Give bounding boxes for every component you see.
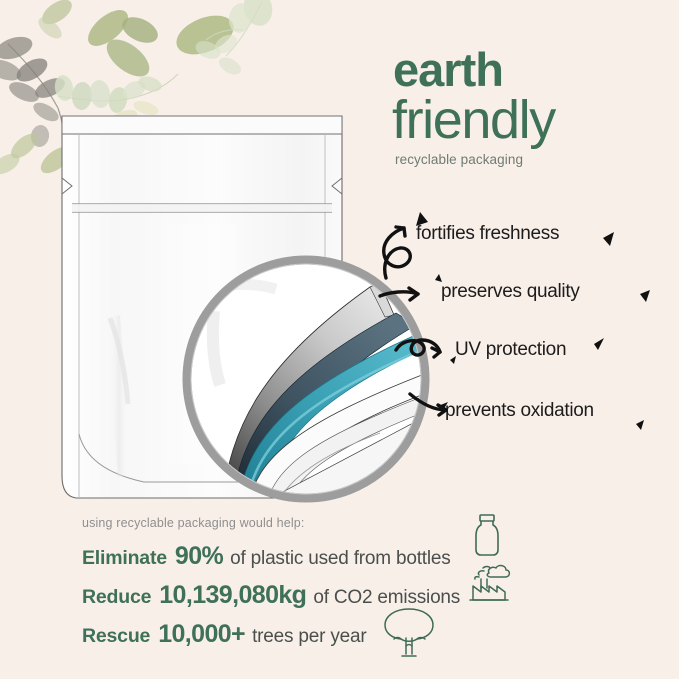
headline-block: earth friendly recyclable packaging bbox=[392, 47, 660, 167]
headline-line-1: earth bbox=[393, 47, 660, 93]
headline-line-2: friendly bbox=[392, 93, 660, 147]
stat-verb: Reduce bbox=[82, 586, 151, 609]
magnifier-cross-section bbox=[180, 253, 432, 505]
stat-number: 10,139,080kg bbox=[159, 581, 306, 610]
headline-subtitle: recyclable packaging bbox=[395, 152, 660, 167]
stat-rest: of CO2 emissions bbox=[313, 587, 460, 609]
stat-row: Eliminate 90% of plastic used from bottl… bbox=[82, 542, 642, 569]
stat-verb: Rescue bbox=[82, 625, 150, 648]
stats-intro-text: using recyclable packaging would help: bbox=[82, 516, 642, 530]
feature-label-fortifies-freshness: fortifies freshness bbox=[416, 223, 559, 245]
stat-number: 10,000+ bbox=[158, 620, 245, 649]
stat-number: 90% bbox=[175, 542, 223, 571]
poster-canvas: fortifies freshness preserves quality UV… bbox=[0, 0, 679, 679]
stats-block: using recyclable packaging would help: E… bbox=[82, 516, 642, 659]
stat-row: Rescue 10,000+ trees per year bbox=[82, 620, 642, 647]
stat-verb: Eliminate bbox=[82, 547, 167, 570]
feature-label-prevents-oxidation: prevents oxidation bbox=[445, 400, 594, 422]
stat-row: Reduce 10,139,080kg of CO2 emissions bbox=[82, 581, 642, 608]
feature-label-uv-protection: UV protection bbox=[455, 339, 566, 361]
feature-label-preserves-quality: preserves quality bbox=[441, 281, 580, 303]
stat-rest: trees per year bbox=[252, 626, 366, 648]
stat-rest: of plastic used from bottles bbox=[230, 548, 450, 570]
